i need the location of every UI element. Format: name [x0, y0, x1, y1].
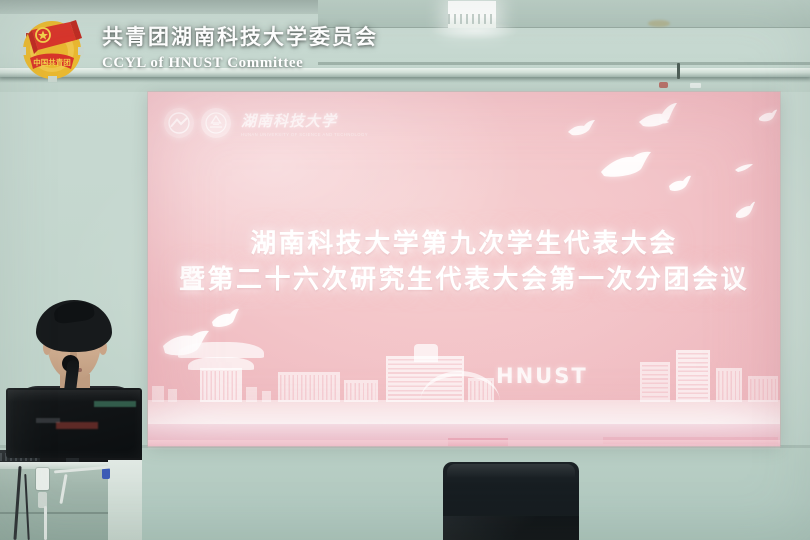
wall-smudge: [648, 20, 670, 27]
rail-marker-white: [690, 83, 701, 88]
lectern-side-panel: [108, 460, 142, 540]
rail-marker-red: [659, 82, 668, 88]
monitor-display[interactable]: [6, 388, 142, 458]
ceiling-seam: [318, 62, 810, 65]
ccyl-emblem-icon: 中国共青团: [14, 10, 90, 86]
monitor-content-red: [56, 422, 98, 429]
slide-vignette: [148, 92, 780, 446]
rail-clip: [677, 63, 680, 79]
blue-desk-object[interactable]: [102, 468, 110, 479]
screenshot-root: 湖南科技大学 HUNAN UNIVERSITY OF SCIENCE AND T…: [0, 0, 810, 540]
projector-bottom-spill: [148, 440, 780, 450]
watermark-overlay: 中国共青团 共青团湖南科技大学委员会 CCYL of HNUST Committ…: [14, 10, 378, 86]
monitor-content-grey: [36, 418, 60, 423]
watermark-title-en: CCYL of HNUST Committee: [102, 55, 378, 72]
ccyl-emblem-text: 中国共青团: [33, 57, 71, 67]
watermark-title-cn: 共青团湖南科技大学委员会: [102, 21, 378, 51]
ceiling-light-glow: [430, 22, 520, 40]
chair-fold-shadow: [443, 516, 579, 540]
projection-screen: 湖南科技大学 HUNAN UNIVERSITY OF SCIENCE AND T…: [148, 92, 780, 446]
monitor-content-green: [94, 401, 136, 407]
watermark-text-block: 共青团湖南科技大学委员会 CCYL of HNUST Committee: [102, 21, 378, 76]
ceiling-soffit: [318, 0, 810, 27]
signal-cable: [44, 506, 47, 540]
chair-highlight: [447, 464, 575, 478]
cable-adapter: [36, 468, 49, 490]
